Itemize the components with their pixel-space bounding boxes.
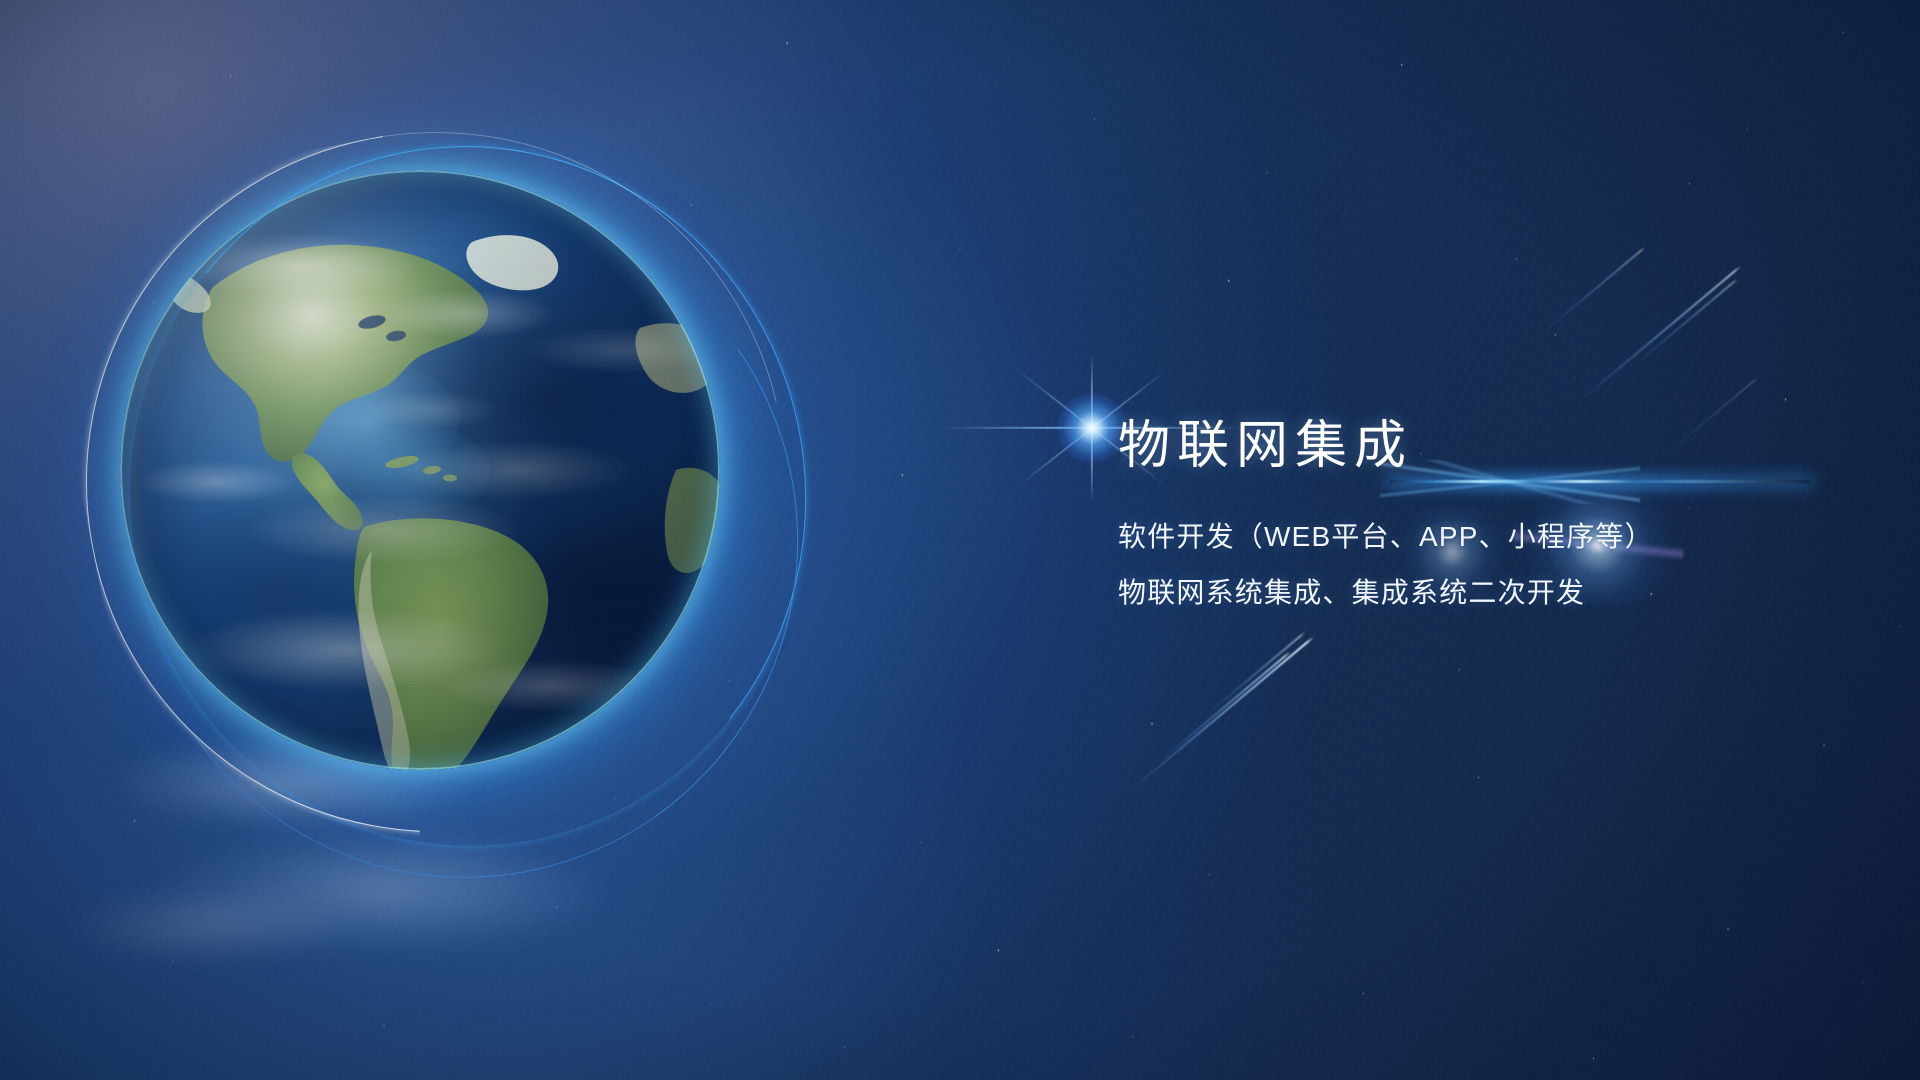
meteor-streak (1129, 636, 1314, 792)
meteor-streak (1545, 247, 1646, 332)
earth-globe (90, 140, 750, 800)
meteor-streak (1205, 632, 1306, 717)
hero-banner: 物联网集成 软件开发（WEB平台、APP、小程序等） 物联网系统集成、集成系统二… (0, 0, 1920, 1080)
meteor-streak (1579, 265, 1741, 402)
hero-text-block: 物联网集成 软件开发（WEB平台、APP、小程序等） 物联网系统集成、集成系统二… (1118, 418, 1858, 607)
hero-subtitle-line-2: 物联网系统集成、集成系统二次开发 (1118, 579, 1858, 607)
hero-subtitle-line-1: 软件开发（WEB平台、APP、小程序等） (1118, 523, 1858, 551)
page-title: 物联网集成 (1118, 418, 1858, 474)
meteor-streak (1629, 278, 1737, 369)
meteor-streak (1159, 651, 1290, 762)
